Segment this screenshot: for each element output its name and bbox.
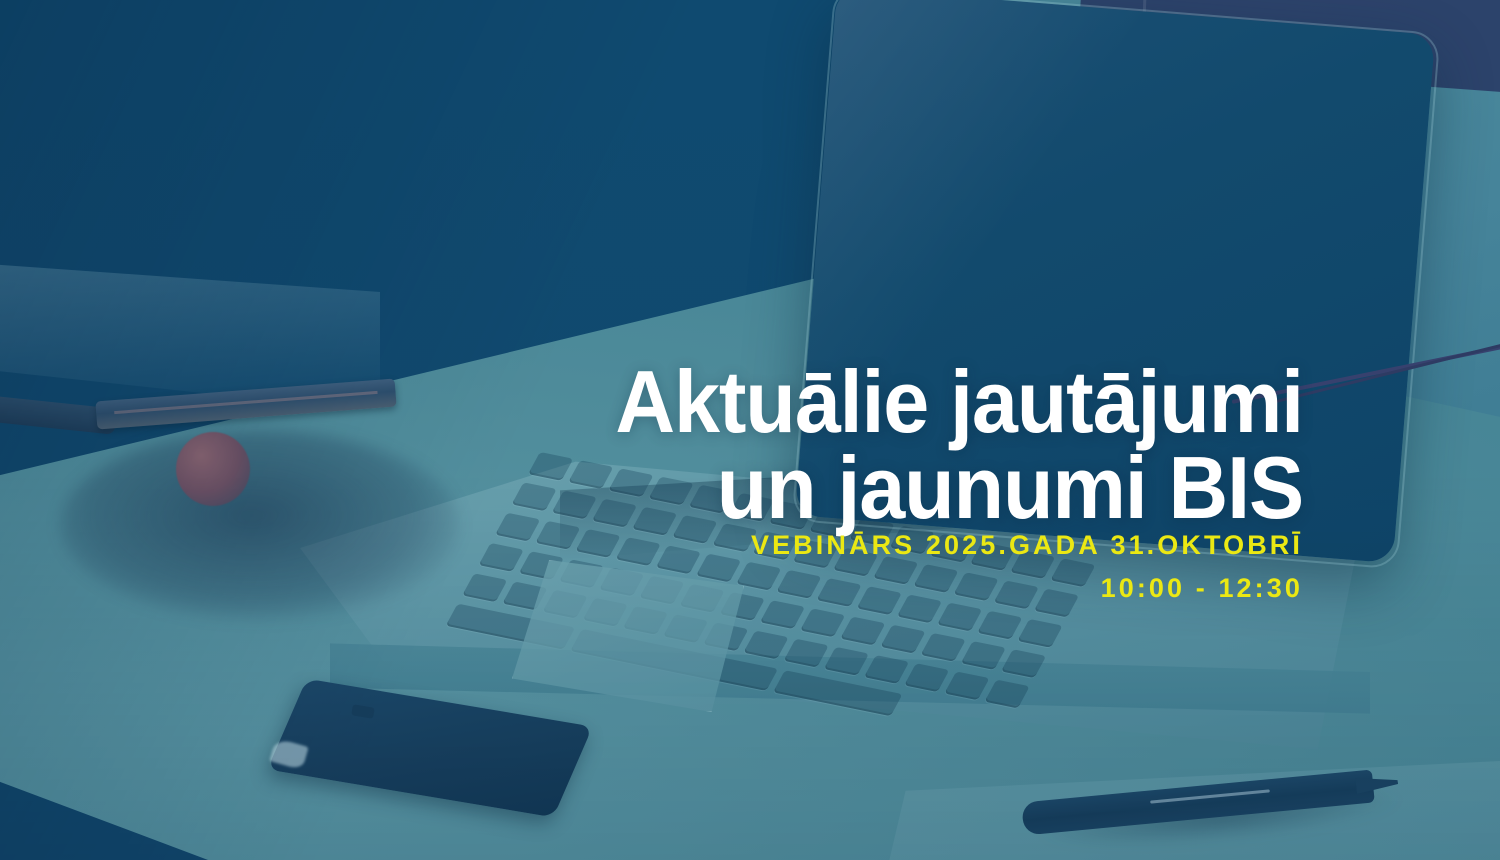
webinar-promo-banner: Aktuālie jautājumi un jaunumi BIS VEBINĀ… [0, 0, 1500, 860]
banner-headline: Aktuālie jautājumi un jaunumi BIS [382, 359, 1303, 531]
event-time: 10:00 - 12:30 [403, 567, 1303, 610]
banner-event-details: VEBINĀRS 2025.GADA 31.OKTOBRĪ 10:00 - 12… [403, 524, 1303, 609]
event-date: VEBINĀRS 2025.GADA 31.OKTOBRĪ [403, 524, 1303, 567]
banner-content: Aktuālie jautājumi un jaunumi BIS VEBINĀ… [0, 0, 1500, 860]
